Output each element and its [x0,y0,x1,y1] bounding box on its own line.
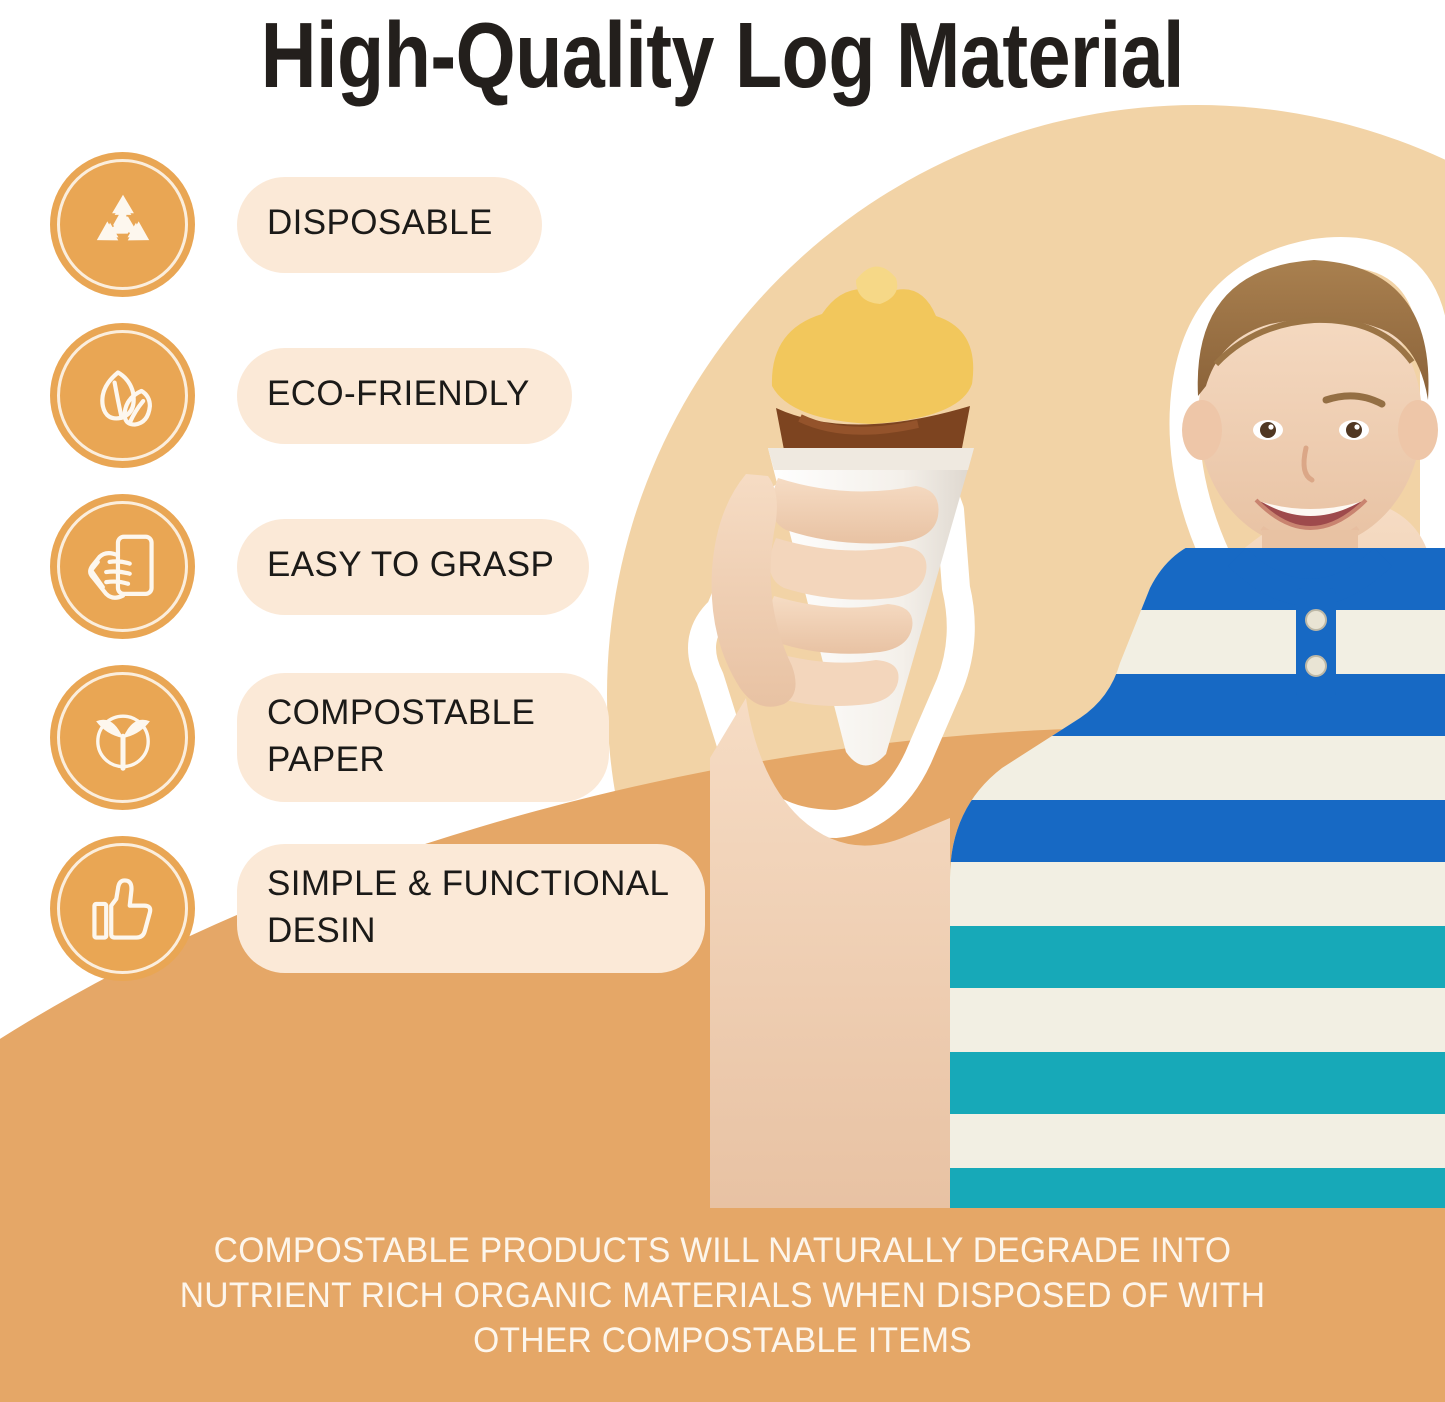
leaves-icon [50,323,195,468]
hand-grasp-icon [50,494,195,639]
feature-item-compostable-paper[interactable]: COMPOSTABLE PAPER [50,665,730,810]
feature-label-pill: COMPOSTABLE PAPER [237,673,609,801]
feature-label-pill: SIMPLE & FUNCTIONAL DESIN [237,844,705,972]
feature-label: EASY TO GRASP [267,542,554,588]
sprout-icon [50,665,195,810]
feature-label-pill: DISPOSABLE [237,177,542,273]
infographic-root: High-Quality Log Material [0,0,1445,1402]
striped-shirt [930,530,1445,1208]
feature-label-pill: EASY TO GRASP [237,519,589,615]
feature-item-simple-functional[interactable]: SIMPLE & FUNCTIONAL DESIN [50,836,730,981]
caption-line-1: COMPOSTABLE PRODUCTS WILL NATURALLY DEGR… [29,1228,1416,1273]
boy-head [1182,260,1438,548]
feature-label: DISPOSABLE [267,200,493,246]
feature-label: COMPOSTABLE PAPER [267,690,535,782]
feature-item-disposable[interactable]: DISPOSABLE [50,152,730,297]
product-photo [650,118,1445,1208]
page-title: High-Quality Log Material [261,2,1184,110]
caption-line-2: NUTRIENT RICH ORGANIC MATERIALS WHEN DIS… [29,1273,1416,1318]
feature-item-eco-friendly[interactable]: ECO-FRIENDLY [50,323,730,468]
caption-line-3: OTHER COMPOSTABLE ITEMS [29,1318,1416,1363]
feature-label-pill: ECO-FRIENDLY [237,348,572,444]
bottom-caption: COMPOSTABLE PRODUCTS WILL NATURALLY DEGR… [29,1228,1416,1363]
feature-list: DISPOSABLE ECO-FRIENDLY [50,152,730,1007]
page-title-container: High-Quality Log Material [0,2,1445,98]
feature-item-easy-to-grasp[interactable]: EASY TO GRASP [50,494,730,639]
recycle-icon [50,152,195,297]
feature-label: SIMPLE & FUNCTIONAL DESIN [267,861,669,953]
thumbs-up-icon [50,836,195,981]
feature-label: ECO-FRIENDLY [267,371,530,417]
